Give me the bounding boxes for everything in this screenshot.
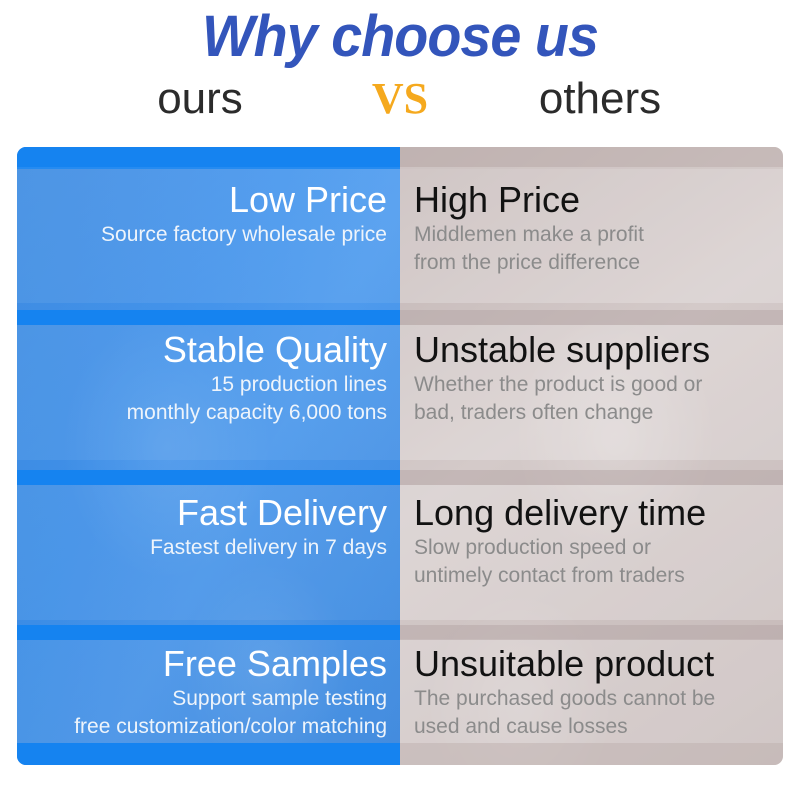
ours-row-desc: Source factory wholesale price	[17, 221, 387, 249]
ours-column: Low Price Source factory wholesale price…	[17, 147, 400, 765]
ours-row-title: Free Samples	[17, 643, 387, 685]
others-row-desc-line2: from the price difference	[414, 249, 783, 277]
page-title: Why choose us	[16, 4, 784, 70]
others-row-title: High Price	[414, 179, 783, 221]
others-row-title: Unsuitable product	[414, 643, 783, 685]
others-row-desc-line1: The purchased goods cannot be	[414, 685, 783, 713]
ours-row-title: Stable Quality	[17, 329, 387, 371]
ours-row-desc-line2: free customization/color matching	[17, 713, 387, 741]
others-row-desc-line2: bad, traders often change	[414, 399, 783, 427]
others-row-desc-line1: Whether the product is good or	[414, 371, 783, 399]
comparison-board: Low Price Source factory wholesale price…	[17, 147, 783, 765]
others-row-desc-line2: used and cause losses	[414, 713, 783, 741]
others-row-price: High Price Middlemen make a profit from …	[400, 179, 783, 297]
others-row-desc-line2: untimely contact from traders	[414, 562, 783, 590]
header: Why choose us ours VS others	[0, 0, 800, 132]
legend-others: others	[400, 70, 800, 128]
ours-row-price: Low Price Source factory wholesale price	[17, 179, 400, 297]
ours-row-quality: Stable Quality 15 production lines month…	[17, 329, 400, 461]
ours-row-title: Low Price	[17, 179, 387, 221]
ours-rows: Low Price Source factory wholesale price…	[17, 147, 400, 765]
others-row-desc-line1: Slow production speed or	[414, 534, 783, 562]
others-row-samples: Unsuitable product The purchased goods c…	[400, 643, 783, 765]
others-row-desc-line1: Middlemen make a profit	[414, 221, 783, 249]
others-rows: High Price Middlemen make a profit from …	[400, 147, 783, 765]
others-row-delivery: Long delivery time Slow production speed…	[400, 492, 783, 622]
others-row-quality: Unstable suppliers Whether the product i…	[400, 329, 783, 461]
others-column: High Price Middlemen make a profit from …	[400, 147, 783, 765]
ours-row-desc: Fastest delivery in 7 days	[17, 534, 387, 562]
ours-row-delivery: Fast Delivery Fastest delivery in 7 days	[17, 492, 400, 622]
comparison-legend: ours VS others	[0, 70, 800, 132]
others-row-title: Long delivery time	[414, 492, 783, 534]
ours-row-samples: Free Samples Support sample testing free…	[17, 643, 400, 765]
ours-row-title: Fast Delivery	[17, 492, 387, 534]
ours-row-desc-line2: monthly capacity 6,000 tons	[17, 399, 387, 427]
ours-row-desc-line1: 15 production lines	[17, 371, 387, 399]
others-row-title: Unstable suppliers	[414, 329, 783, 371]
ours-row-desc-line1: Support sample testing	[17, 685, 387, 713]
